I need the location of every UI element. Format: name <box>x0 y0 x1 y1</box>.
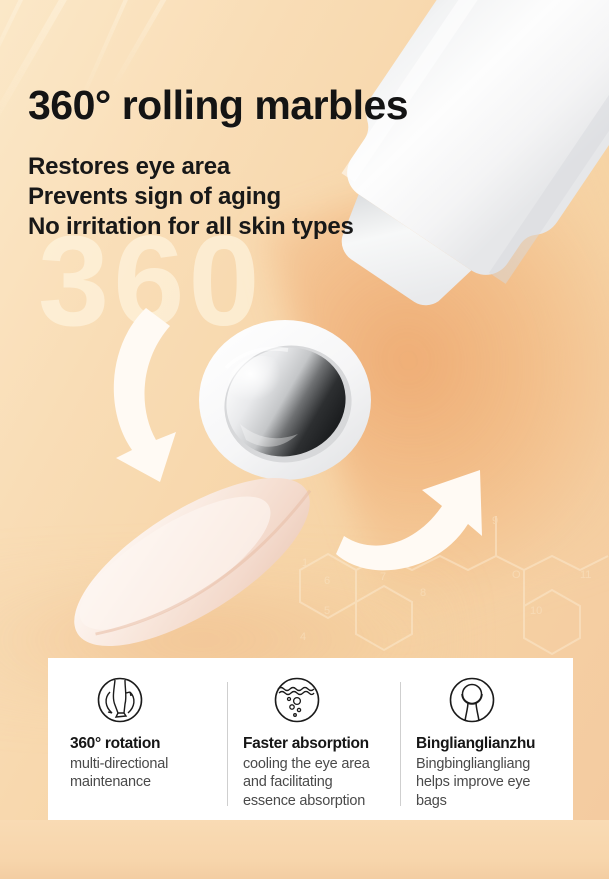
benefit-line-2: Prevents sign of aging <box>28 182 354 212</box>
rotation-arrow-right <box>330 432 500 597</box>
feature-cooling-ball: Binglianglianzhu Bingbingliangliang help… <box>400 658 573 820</box>
water-bubbles-icon <box>273 676 321 724</box>
svg-text:10: 10 <box>530 605 542 617</box>
rotation-arrow-left <box>98 300 238 485</box>
feature-absorption: Faster absorption cooling the eye area a… <box>227 658 400 820</box>
feature-rotation: 360° rotation multi-directional maintena… <box>48 658 227 820</box>
cream-smear <box>42 462 342 662</box>
svg-text:11: 11 <box>580 569 591 581</box>
benefit-line-3: No irritation for all skin types <box>28 212 354 242</box>
roller-rotation-icon <box>96 676 144 724</box>
bottom-band <box>0 820 609 879</box>
feature-title: Faster absorption <box>243 735 390 754</box>
feature-panel: 360° rotation multi-directional maintena… <box>48 658 573 820</box>
product-poster: 360 1 6 5 4 7 8 9 O 10 11 <box>0 0 609 879</box>
feature-description: Bingbingliangliang helps improve eye bag… <box>416 755 563 811</box>
feature-title: Binglianglianzhu <box>416 735 563 754</box>
feature-title: 360° rotation <box>70 735 217 754</box>
feature-description: cooling the eye area and facilitating es… <box>243 755 390 811</box>
feature-description: multi-directional maintenance <box>70 755 217 792</box>
benefit-list: Restores eye area Prevents sign of aging… <box>28 152 354 243</box>
svg-text:O: O <box>512 569 521 581</box>
benefit-line-1: Restores eye area <box>28 152 354 182</box>
page-title: 360° rolling marbles <box>28 82 408 129</box>
roller-ball-head-icon <box>448 676 496 724</box>
